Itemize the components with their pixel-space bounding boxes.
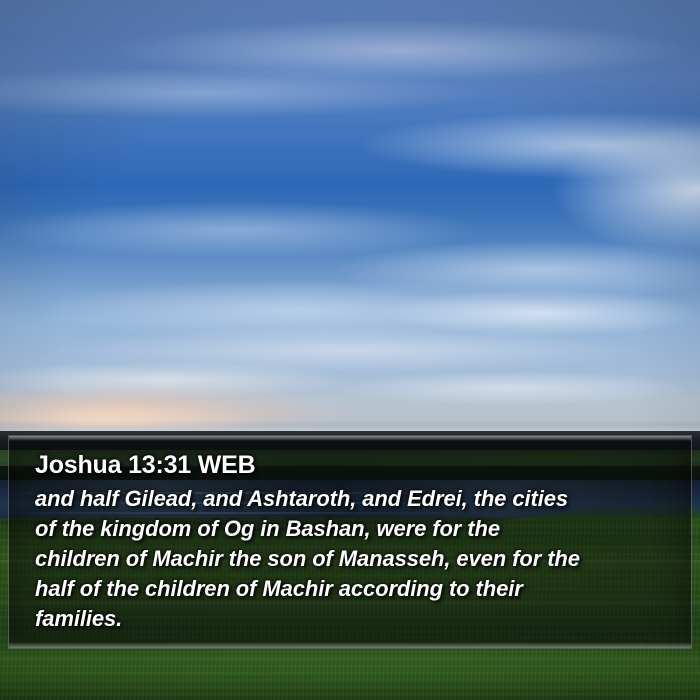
verse-text-line: half of the children of Machir according… — [35, 574, 673, 604]
verse-reference: Joshua 13:31 WEB — [35, 450, 673, 480]
verse-text-line: of the kingdom of Og in Bashan, were for… — [35, 514, 673, 544]
verse-image-scene: Joshua 13:31 WEB and half Gilead, and As… — [0, 0, 700, 700]
verse-text-line: children of Machir the son of Manasseh, … — [35, 544, 673, 574]
verse-text-line: families. — [35, 604, 673, 634]
verse-text-line: and half Gilead, and Ashtaroth, and Edre… — [35, 484, 673, 514]
verse-overlay-panel: Joshua 13:31 WEB and half Gilead, and As… — [8, 435, 692, 649]
verse-text: and half Gilead, and Ashtaroth, and Edre… — [35, 484, 673, 634]
